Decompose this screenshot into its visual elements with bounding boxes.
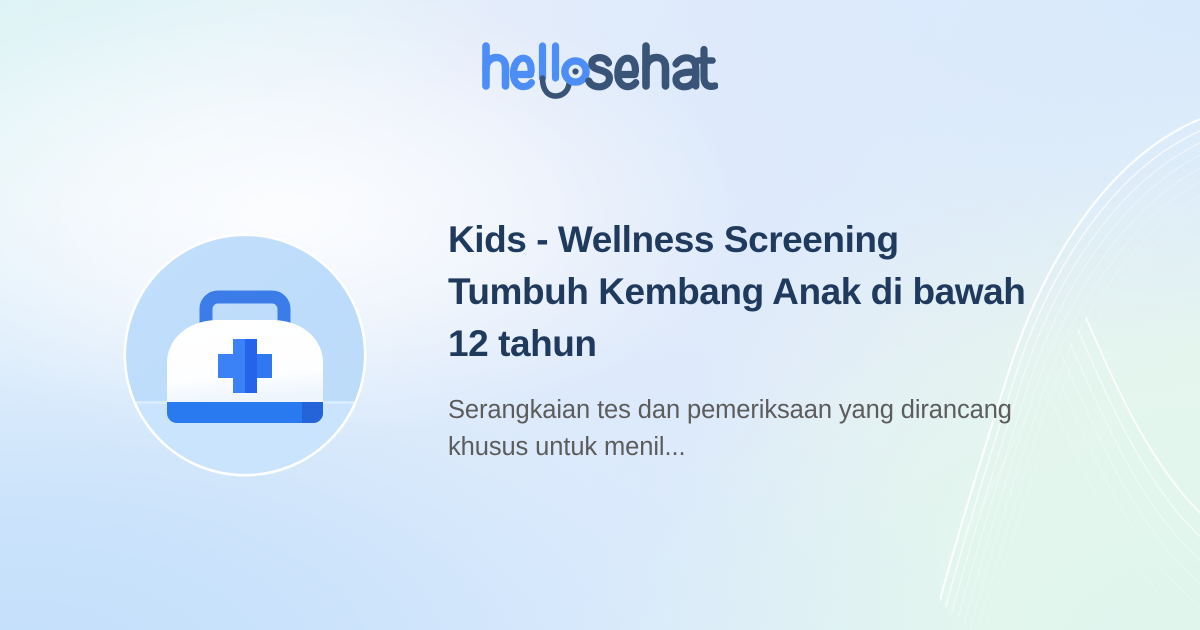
share-card: hellosehat xyxy=(0,0,1200,630)
text-block: Kids - Wellness Screening Tumbuh Kembang… xyxy=(448,214,1048,466)
page-description: Serangkaian tes dan pemeriksaan yang dir… xyxy=(448,392,1048,466)
medical-bag-badge xyxy=(122,232,368,478)
hellosehat-logo[interactable]: hellosehat xyxy=(482,41,718,99)
bag-base xyxy=(167,402,323,423)
bag-base-shadow xyxy=(302,402,323,423)
page-title: Kids - Wellness Screening Tumbuh Kembang… xyxy=(448,214,1048,370)
